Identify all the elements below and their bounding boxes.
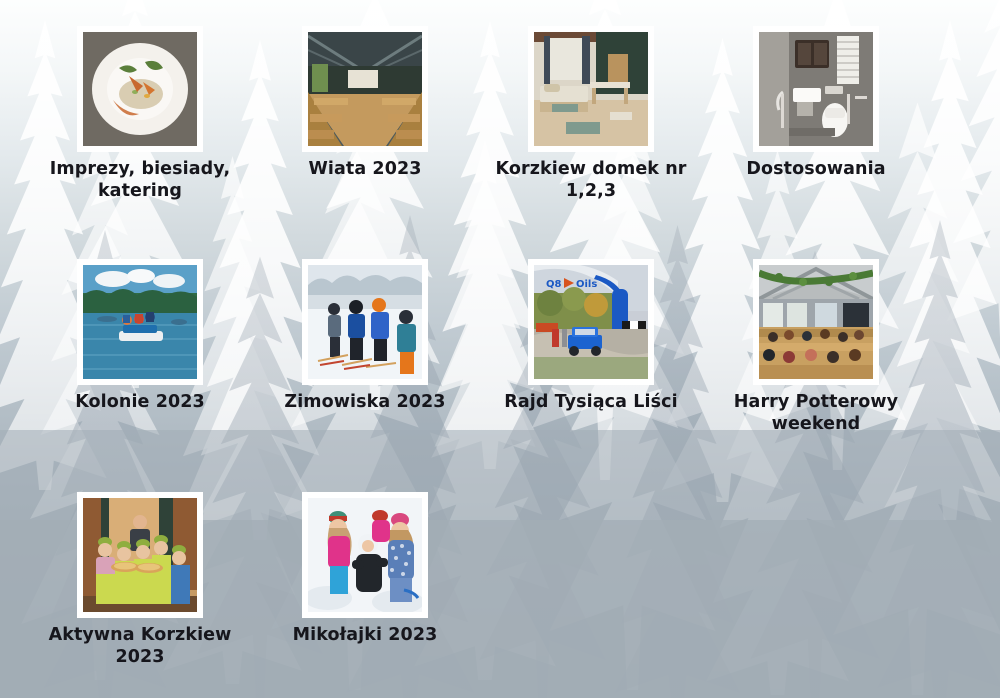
photo-frame: Q8 Oils	[528, 259, 654, 385]
svg-text:Q8: Q8	[546, 279, 562, 290]
photo-frame	[302, 492, 428, 618]
gallery-card-zimowiska[interactable]: Zimowiska 2023	[302, 259, 428, 385]
gallery-card-harry-potter[interactable]: Harry Potterowy weekend	[753, 259, 879, 385]
children-with-pizza-photo	[83, 498, 197, 612]
photo-frame	[753, 26, 879, 152]
plate-of-food-photo	[83, 32, 197, 146]
guest-room-interior-photo	[534, 32, 648, 146]
gallery-card-aktywna-korzkiew[interactable]: Aktywna Korzkiew 2023	[77, 492, 203, 618]
event-hall-with-guests-photo	[759, 265, 873, 379]
gallery-card-dostosowania[interactable]: Dostosowania	[753, 26, 879, 152]
photo-frame	[528, 26, 654, 152]
gallery-card-kolonie[interactable]: Kolonie 2023	[77, 259, 203, 385]
gallery-caption: Dostosowania	[701, 158, 931, 180]
rally-start-arch-photo: Q8 Oils	[534, 265, 648, 379]
photo-frame	[302, 259, 428, 385]
gallery-card-korzkiew-domek[interactable]: Korzkiew domek nr 1,2,3	[528, 26, 654, 152]
gallery-caption: Korzkiew domek nr 1,2,3	[476, 158, 706, 203]
gallery-caption: Harry Potterowy weekend	[701, 391, 931, 436]
children-skiing-photo	[308, 265, 422, 379]
gallery-page: Imprezy, biesiady, katering	[0, 0, 1000, 698]
gallery-card-imprezy[interactable]: Imprezy, biesiady, katering	[77, 26, 203, 152]
photo-frame	[77, 26, 203, 152]
gallery-caption: Wiata 2023	[250, 158, 480, 180]
photo-frame	[77, 492, 203, 618]
wooden-shelter-hall-photo	[308, 32, 422, 146]
photo-frame	[302, 26, 428, 152]
photo-gallery-grid: Imprezy, biesiady, katering	[0, 0, 1000, 698]
gallery-caption: Imprezy, biesiady, katering	[25, 158, 255, 203]
gallery-card-rajd[interactable]: Q8 Oils	[528, 259, 654, 385]
children-playing-in-snow-photo	[308, 498, 422, 612]
photo-frame	[77, 259, 203, 385]
gallery-caption: Aktywna Korzkiew 2023	[25, 624, 255, 669]
accessible-bathroom-photo	[759, 32, 873, 146]
pedal-boat-on-lake-photo	[83, 265, 197, 379]
photo-frame	[753, 259, 879, 385]
gallery-card-wiata[interactable]: Wiata 2023	[302, 26, 428, 152]
gallery-caption: Zimowiska 2023	[250, 391, 480, 413]
gallery-caption: Rajd Tysiąca Liści	[476, 391, 706, 413]
gallery-caption: Mikołajki 2023	[250, 624, 480, 646]
gallery-card-mikolajki[interactable]: Mikołajki 2023	[302, 492, 428, 618]
gallery-caption: Kolonie 2023	[25, 391, 255, 413]
